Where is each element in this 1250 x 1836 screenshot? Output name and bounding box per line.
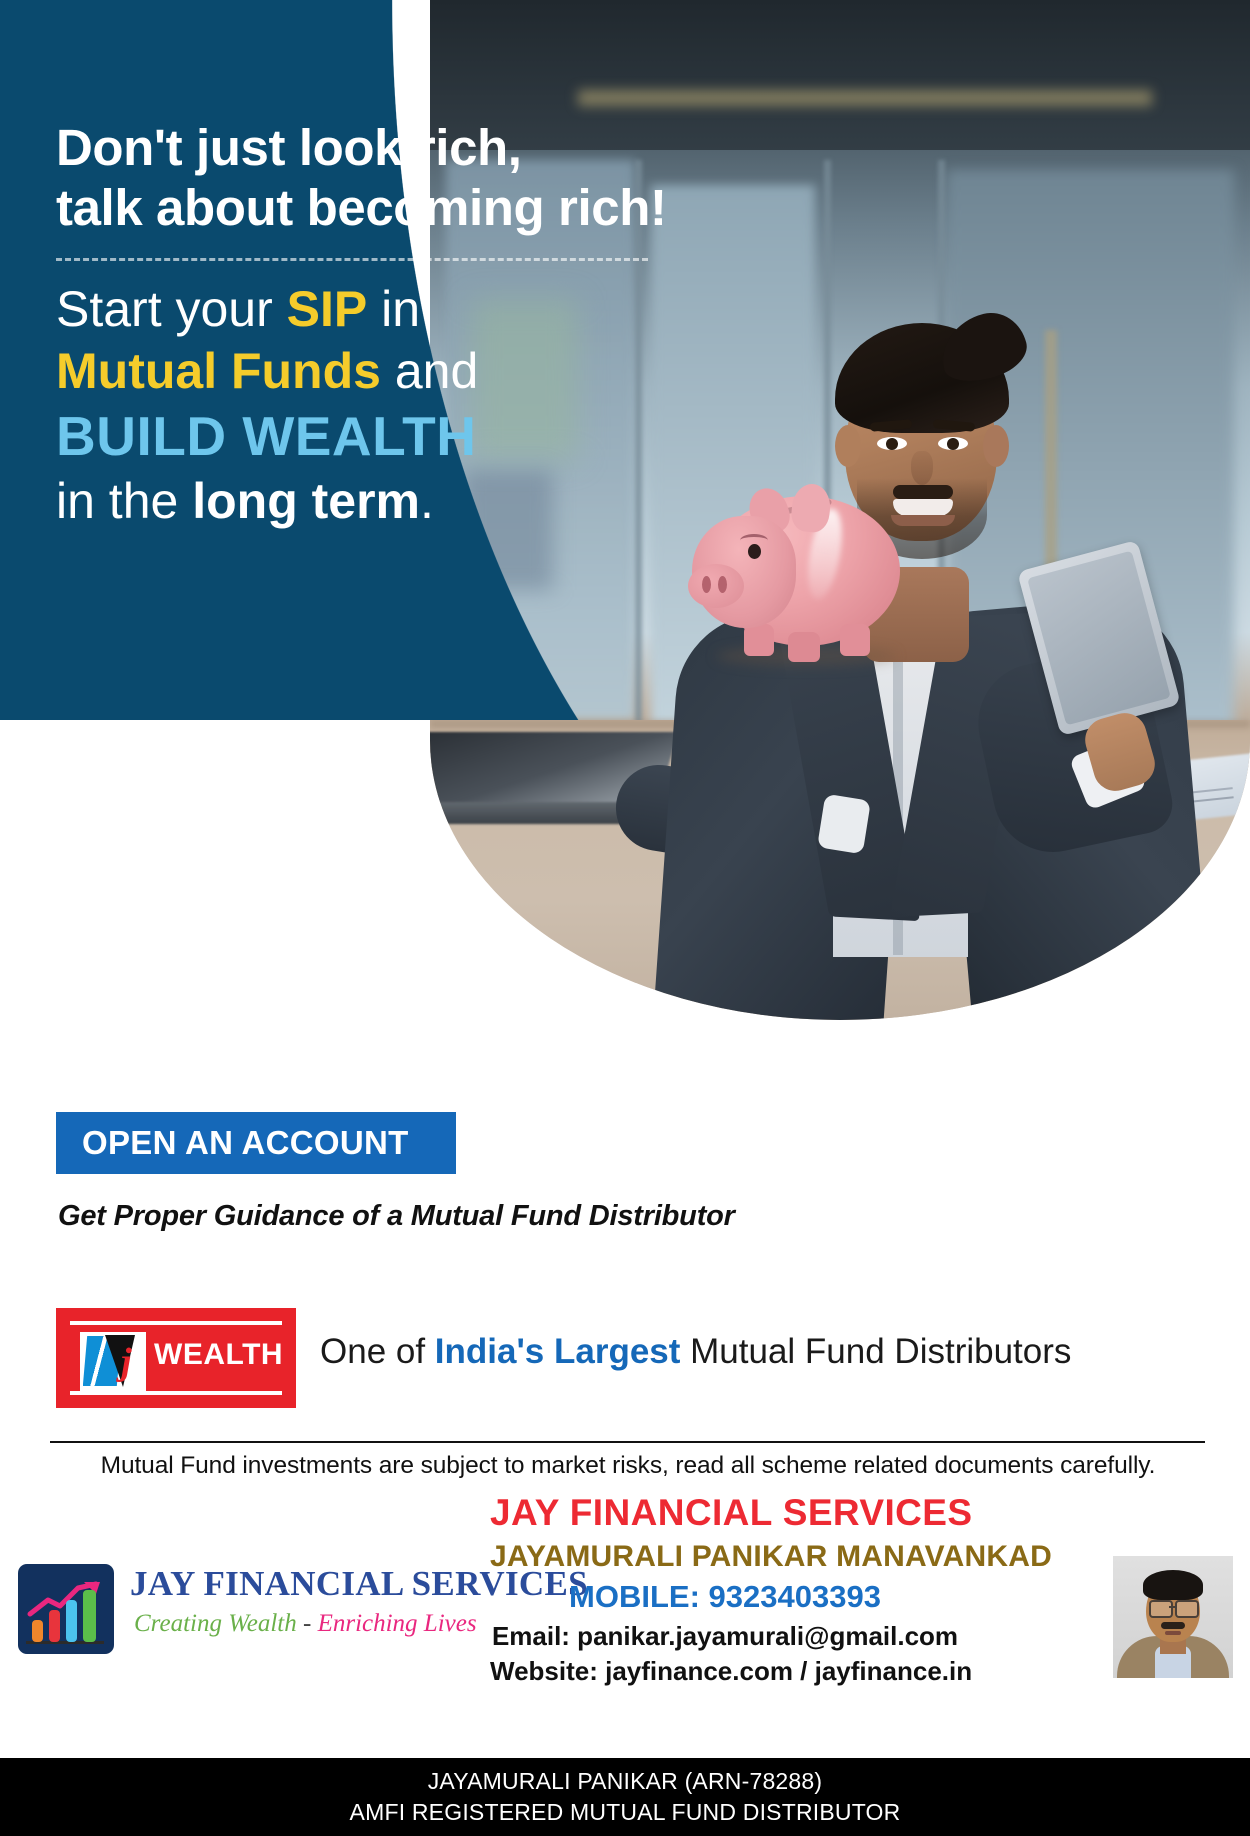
open-an-account-button[interactable]: OPEN AN ACCOUNT xyxy=(56,1112,456,1174)
portrait-mouth xyxy=(1165,1631,1181,1635)
subheadline-block: Start your SIP in Mutual Funds and BUILD… xyxy=(56,278,756,532)
portrait-glasses-bridge xyxy=(1169,1606,1176,1608)
sub-and: and xyxy=(381,343,478,399)
sub-in: in xyxy=(367,281,420,337)
contact-person-name: JAYAMURALI PANIKAR MANAVANKAD xyxy=(490,1540,960,1574)
footer-line-2: AMFI REGISTERED MUTUAL FUND DISTRIBUTOR xyxy=(350,1797,901,1828)
disclaimer-rule xyxy=(50,1441,1205,1443)
contact-firm-title: JAY FINANCIAL SERVICES xyxy=(490,1492,960,1534)
contact-website[interactable]: Website: jayfinance.com / jayfinance.in xyxy=(490,1656,960,1687)
firm-logo-tagline: Creating Wealth - Enriching Lives xyxy=(134,1610,477,1638)
portrait-mustache xyxy=(1161,1622,1185,1629)
chart-bar-3 xyxy=(66,1600,77,1642)
nj-monogram-icon: j xyxy=(80,1332,146,1394)
subheadline-line-3: BUILD WEALTH xyxy=(56,402,756,470)
contact-email[interactable]: Email: panikar.jayamurali@gmail.com xyxy=(490,1621,960,1652)
chart-bar-2 xyxy=(49,1610,60,1642)
portrait-glasses-right xyxy=(1175,1600,1199,1618)
headline-line-1: Don't just look rich, xyxy=(56,118,716,178)
chart-bar-4 xyxy=(83,1590,96,1642)
tagline-pink: Enriching Lives xyxy=(318,1610,477,1637)
footer-bar: JAYAMURALI PANIKAR (ARN-78288) AMFI REGI… xyxy=(0,1758,1250,1836)
subheadline-line-1: Start your SIP in xyxy=(56,278,756,340)
jay-financial-logo: JAY FINANCIAL SERVICES Creating Wealth -… xyxy=(18,1560,488,1656)
contact-mobile[interactable]: MOBILE: 9323403393 xyxy=(490,1579,960,1615)
contact-block: JAY FINANCIAL SERVICES JAYAMURALI PANIKA… xyxy=(490,1492,960,1687)
open-an-account-label: OPEN AN ACCOUNT xyxy=(82,1124,409,1162)
dotted-divider xyxy=(56,258,648,261)
build-wealth-highlight: BUILD WEALTH xyxy=(56,405,476,467)
disclaimer-text: Mutual Fund investments are subject to m… xyxy=(58,1452,1198,1480)
footer-line-1: JAYAMURALI PANIKAR (ARN-78288) xyxy=(428,1766,823,1797)
nj-rule-top xyxy=(70,1321,282,1325)
sub-tail-pre: in the xyxy=(56,473,192,529)
headline-block: Don't just look rich, talk about becomin… xyxy=(56,118,716,238)
portrait-glasses-left xyxy=(1149,1600,1173,1618)
nj-tagline-highlight: India's Largest xyxy=(435,1332,681,1371)
headline-line-2: talk about becoming rich! xyxy=(56,178,716,238)
mutual-funds-highlight: Mutual Funds xyxy=(56,343,381,399)
sip-highlight: SIP xyxy=(287,281,368,337)
nj-tagline-pre: One of xyxy=(320,1332,435,1371)
sub-prefix: Start your xyxy=(56,281,287,337)
poster-canvas: Don't just look rich, talk about becomin… xyxy=(0,0,1250,1836)
subheadline-line-2: Mutual Funds and xyxy=(56,340,756,402)
subheadline-line-4: in the long term. xyxy=(56,470,756,532)
tagline-dash: - xyxy=(297,1610,318,1637)
chart-bar-1 xyxy=(32,1620,43,1642)
left-shirt-cuff xyxy=(817,794,871,855)
nj-tagline-post: Mutual Fund Distributors xyxy=(680,1332,1071,1371)
cta-subtext: Get Proper Guidance of a Mutual Fund Dis… xyxy=(58,1200,735,1233)
tagline-green: Creating Wealth xyxy=(134,1610,297,1637)
nj-wealth-word: WEALTH xyxy=(154,1338,283,1372)
sub-tail-post: . xyxy=(420,473,434,529)
long-term-bold: long term xyxy=(192,473,420,529)
growth-chart-icon xyxy=(18,1564,114,1654)
nj-letter-j: j xyxy=(121,1343,132,1381)
nj-tagline: One of India's Largest Mutual Fund Distr… xyxy=(320,1332,1071,1372)
portrait-hair xyxy=(1143,1570,1203,1600)
nj-wealth-row: j WEALTH One of India's Largest Mutual F… xyxy=(56,1308,1196,1408)
nj-wealth-logo: j WEALTH xyxy=(56,1308,296,1408)
distributor-portrait xyxy=(1113,1556,1233,1678)
